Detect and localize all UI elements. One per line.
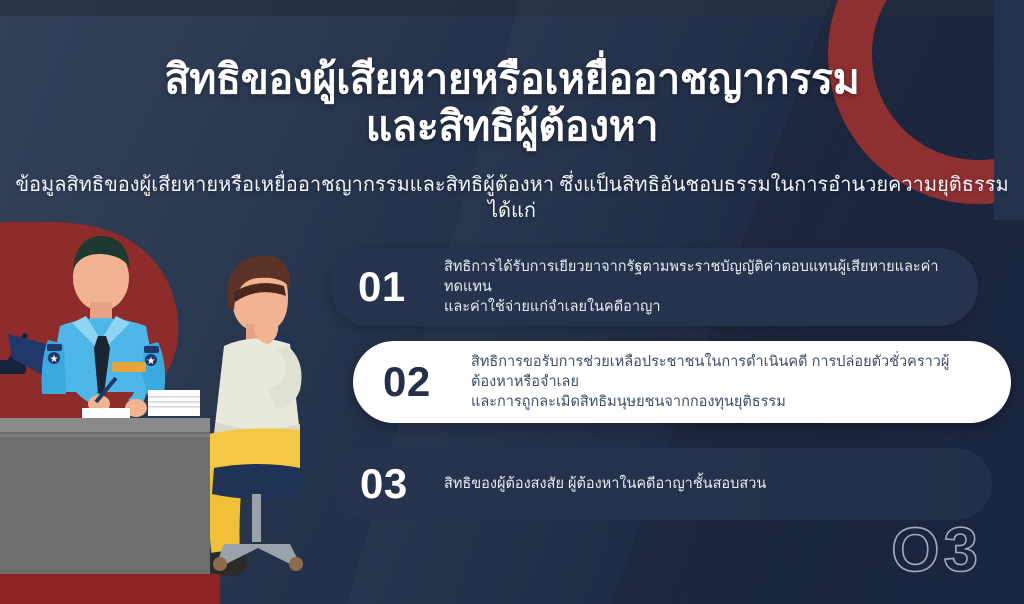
page-subtitle: ข้อมูลสิทธิของผู้เสียหายหรือเหยื่ออาชญาก… xyxy=(0,172,1024,224)
page-title: สิทธิของผู้เสียหายหรือเหยื่ออาชญากรรม แล… xyxy=(0,56,1024,150)
slide-canvas: สิทธิของผู้เสียหายหรือเหยื่ออาชญากรรม แล… xyxy=(0,0,1024,604)
list-item-03[interactable]: 03 สิทธิของผู้ต้องสงสัย ผู้ต้องหาในคดีอา… xyxy=(332,448,992,520)
item-text-01: สิทธิการได้รับการเยียวยาจากรัฐตามพระราชบ… xyxy=(444,257,956,317)
page-marker: O3 xyxy=(891,515,982,586)
item-number-01: 01 xyxy=(358,263,444,311)
item-text-02: สิทธิการขอรับการช่วยเหลือประชาชนในการดำเ… xyxy=(471,352,985,412)
item-number-03: 03 xyxy=(360,460,444,508)
item-number-02: 02 xyxy=(383,358,471,406)
list-item-01[interactable]: 01 สิทธิการได้รับการเยียวยาจากรัฐตามพระร… xyxy=(330,248,978,326)
item-text-03: สิทธิของผู้ต้องสงสัย ผู้ต้องหาในคดีอาญาช… xyxy=(444,474,970,494)
list-item-02[interactable]: 02 สิทธิการขอรับการช่วยเหลือประชาชนในการ… xyxy=(353,341,1011,423)
